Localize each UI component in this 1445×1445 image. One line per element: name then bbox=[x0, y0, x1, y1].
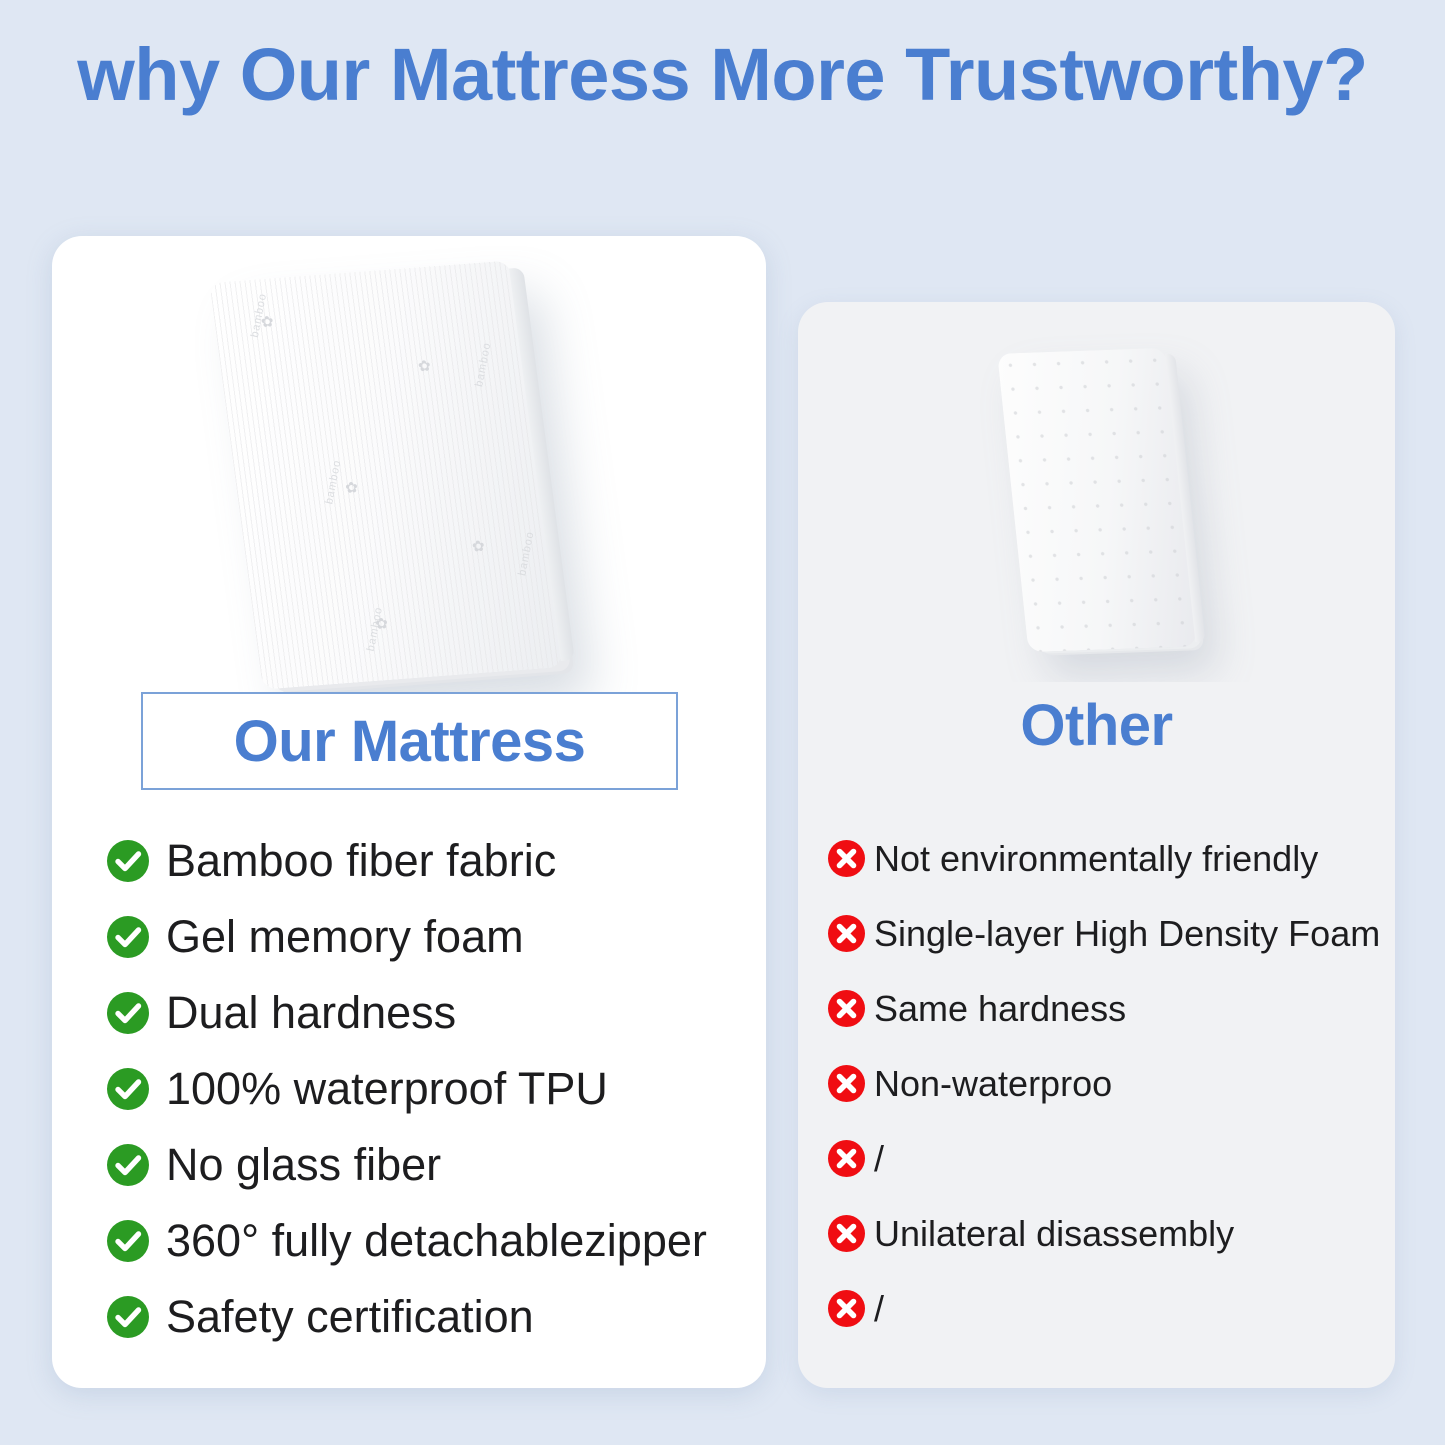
feature-label: Non-waterproo bbox=[874, 1063, 1112, 1105]
bamboo-leaf-icon: ✿ bbox=[344, 480, 359, 496]
other-mattress-image bbox=[808, 312, 1385, 682]
list-item: Single-layer High Density Foam bbox=[828, 896, 1393, 971]
list-item: Unilateral disassembly bbox=[828, 1196, 1393, 1271]
check-circle-icon bbox=[107, 916, 149, 958]
feature-label: / bbox=[874, 1288, 884, 1330]
our-mattress-image: ✿ ✿ ✿ ✿ ✿ bamboo bamboo bamboo bamboo ba… bbox=[68, 246, 750, 906]
mattress-slab-other bbox=[997, 348, 1197, 652]
bamboo-watermark: bamboo bbox=[323, 458, 343, 505]
feature-label: Same hardness bbox=[874, 988, 1126, 1030]
list-item: Same hardness bbox=[828, 971, 1393, 1046]
list-item: Dual hardness bbox=[107, 975, 757, 1051]
feature-label: Safety certification bbox=[166, 1291, 534, 1343]
check-circle-icon bbox=[107, 1220, 149, 1262]
our-mattress-heading-box: Our Mattress bbox=[141, 692, 678, 790]
list-item: No glass fiber bbox=[107, 1127, 757, 1203]
list-item: Non-waterproo bbox=[828, 1046, 1393, 1121]
feature-label: Bamboo fiber fabric bbox=[166, 835, 556, 887]
other-card: Other Not environmentally friendly Singl… bbox=[798, 302, 1395, 1388]
list-item: / bbox=[828, 1121, 1393, 1196]
mattress-edge bbox=[509, 267, 575, 661]
mattress-slab-ours: ✿ ✿ ✿ ✿ ✿ bamboo bamboo bamboo bamboo ba… bbox=[209, 260, 562, 689]
feature-label: Unilateral disassembly bbox=[874, 1213, 1234, 1255]
list-item: Gel memory foam bbox=[107, 899, 757, 975]
check-circle-icon bbox=[107, 1296, 149, 1338]
check-circle-icon bbox=[107, 1068, 149, 1110]
bamboo-leaf-icon: ✿ bbox=[471, 539, 486, 555]
bamboo-leaf-icon: ✿ bbox=[417, 359, 432, 375]
feature-label: / bbox=[874, 1138, 884, 1180]
cross-circle-icon bbox=[828, 990, 865, 1027]
list-item: Bamboo fiber fabric bbox=[107, 823, 757, 899]
our-mattress-card: ✿ ✿ ✿ ✿ ✿ bamboo bamboo bamboo bamboo ba… bbox=[52, 236, 766, 1388]
our-mattress-heading: Our Mattress bbox=[234, 708, 586, 775]
check-circle-icon bbox=[107, 992, 149, 1034]
list-item: Not environmentally friendly bbox=[828, 821, 1393, 896]
page-title: why Our Mattress More Trustworthy? bbox=[0, 34, 1445, 117]
list-item: 100% waterproof TPU bbox=[107, 1051, 757, 1127]
list-item: Safety certification bbox=[107, 1279, 757, 1355]
cross-circle-icon bbox=[828, 1215, 865, 1252]
check-circle-icon bbox=[107, 1144, 149, 1186]
mattress-edge bbox=[1165, 354, 1205, 643]
cross-circle-icon bbox=[828, 840, 865, 877]
check-circle-icon bbox=[107, 840, 149, 882]
our-mattress-feature-list: Bamboo fiber fabric Gel memory foam Dual… bbox=[107, 823, 757, 1355]
bamboo-watermark: bamboo bbox=[516, 530, 536, 577]
feature-label: Not environmentally friendly bbox=[874, 838, 1318, 880]
feature-label: No glass fiber bbox=[166, 1139, 441, 1191]
feature-label: 100% waterproof TPU bbox=[166, 1063, 608, 1115]
cross-circle-icon bbox=[828, 1140, 865, 1177]
feature-label: Gel memory foam bbox=[166, 911, 524, 963]
feature-label: Dual hardness bbox=[166, 987, 456, 1039]
feature-label: 360° fully detachablezipper bbox=[166, 1215, 707, 1267]
cross-circle-icon bbox=[828, 915, 865, 952]
other-feature-list: Not environmentally friendly Single-laye… bbox=[828, 821, 1393, 1346]
list-item: / bbox=[828, 1271, 1393, 1346]
feature-label: Single-layer High Density Foam bbox=[874, 913, 1380, 955]
other-heading: Other bbox=[798, 692, 1395, 759]
bamboo-watermark: bamboo bbox=[473, 341, 493, 388]
list-item: 360° fully detachablezipper bbox=[107, 1203, 757, 1279]
cross-circle-icon bbox=[828, 1065, 865, 1102]
cross-circle-icon bbox=[828, 1290, 865, 1327]
